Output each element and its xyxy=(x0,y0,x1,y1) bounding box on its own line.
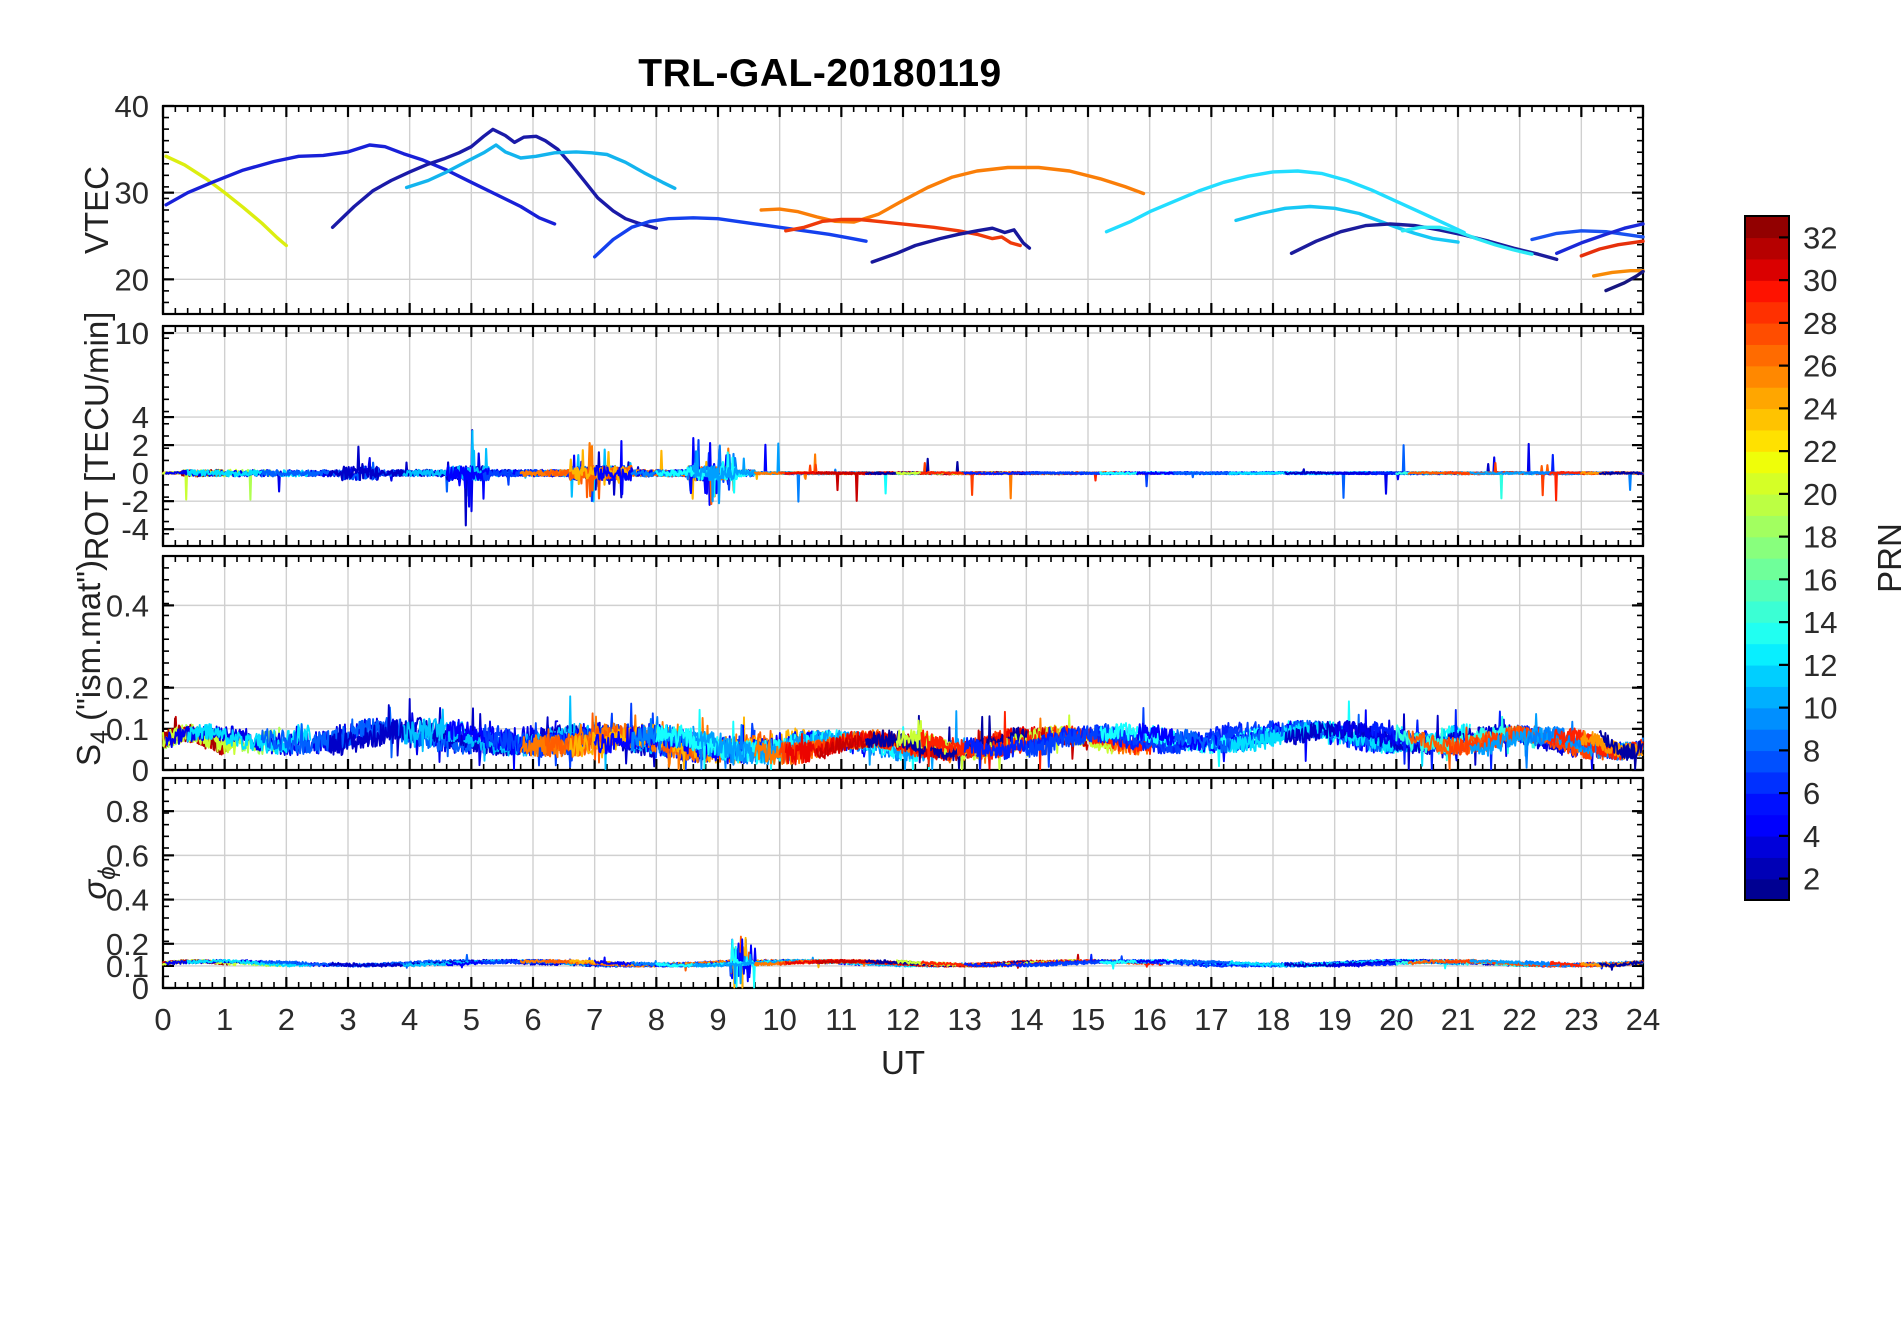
x-tick-label: 6 xyxy=(524,1002,541,1037)
y-tick-label: 0 xyxy=(132,753,149,788)
colorbar-swatch xyxy=(1745,665,1789,687)
colorbar-swatch xyxy=(1745,387,1789,409)
colorbar-tick-label: 18 xyxy=(1803,520,1837,555)
x-axis-label: UT xyxy=(881,1044,925,1081)
x-tick-label: 7 xyxy=(586,1002,603,1037)
colorbar-tick-label: 26 xyxy=(1803,349,1837,384)
colorbar-tick-label: 14 xyxy=(1803,605,1837,640)
x-tick-label: 16 xyxy=(1132,1002,1166,1037)
vtec-trace-prn-11 xyxy=(407,145,675,188)
x-tick-label: 9 xyxy=(709,1002,726,1037)
vtec-trace-prn-13 xyxy=(1107,171,1465,233)
colorbar-tick-label: 30 xyxy=(1803,263,1837,298)
colorbar-tick-label: 22 xyxy=(1803,434,1837,469)
colorbar-tick-label: 10 xyxy=(1803,691,1837,726)
colorbar-swatch xyxy=(1745,216,1789,238)
x-tick-label: 17 xyxy=(1194,1002,1228,1037)
y-tick-label-rot-10: 10 xyxy=(115,316,149,351)
y-tick-label: 20 xyxy=(115,262,149,297)
vtec-trace-prn-26 xyxy=(761,168,1143,223)
colorbar-swatch xyxy=(1745,708,1789,730)
colorbar-swatch xyxy=(1745,430,1789,452)
y-tick-label: 0.4 xyxy=(106,588,149,623)
page-title: TRL-GAL-20180119 xyxy=(0,52,1640,96)
colorbar-swatch xyxy=(1745,366,1789,388)
colorbar-swatch xyxy=(1745,237,1789,259)
rot-trace-prn-6 xyxy=(1372,455,1643,479)
vtec-trace-prn-29 xyxy=(1581,241,1643,256)
x-tick-label: 15 xyxy=(1071,1002,1105,1037)
colorbar-swatch xyxy=(1745,323,1789,345)
colorbar-swatch xyxy=(1745,451,1789,473)
colorbar-swatch xyxy=(1745,644,1789,666)
colorbar-label: PRN xyxy=(1871,523,1902,593)
x-tick-label: 2 xyxy=(278,1002,295,1037)
x-tick-label: 0 xyxy=(154,1002,171,1037)
x-tick-label: 12 xyxy=(886,1002,920,1037)
x-tick-label: 3 xyxy=(339,1002,356,1037)
x-tick-label: 10 xyxy=(762,1002,796,1037)
x-tick-label: 23 xyxy=(1564,1002,1598,1037)
colorbar-swatch xyxy=(1745,772,1789,794)
colorbar-swatch xyxy=(1745,622,1789,644)
y-tick-label: 30 xyxy=(115,176,149,211)
rot-trace-prn-14 xyxy=(1396,472,1537,498)
figure-canvas: 203040-4-20241000.10.20.400.10.20.40.60.… xyxy=(0,0,1902,1330)
y-tick-label: 0.2 xyxy=(106,671,149,706)
colorbar-swatch xyxy=(1745,601,1789,623)
x-tick-label: 21 xyxy=(1441,1002,1475,1037)
vtec-trace-prn-3 xyxy=(1292,224,1557,260)
colorbar-tick-label: 12 xyxy=(1803,648,1837,683)
x-tick-label: 14 xyxy=(1009,1002,1043,1037)
x-tick-label: 11 xyxy=(825,1002,857,1037)
colorbar-swatch xyxy=(1745,836,1789,858)
y-axis-label-vtec: VTEC xyxy=(78,166,115,254)
x-tick-label: 5 xyxy=(463,1002,480,1037)
rot-trace-prn-2 xyxy=(1600,472,1643,474)
colorbar-swatch xyxy=(1745,408,1789,430)
colorbar-swatch xyxy=(1745,857,1789,879)
colorbar-swatch xyxy=(1745,793,1789,815)
x-tick-label: 1 xyxy=(216,1002,233,1037)
colorbar-tick-label: 2 xyxy=(1803,862,1820,897)
rot-trace-prn-26 xyxy=(755,454,1149,498)
colorbar-swatch xyxy=(1745,344,1789,366)
rot-trace-prn-31 xyxy=(817,472,1088,501)
colorbar-swatch xyxy=(1745,473,1789,495)
colorbar-swatch xyxy=(1745,729,1789,751)
colorbar-swatch xyxy=(1745,537,1789,559)
colorbar-tick-label: 24 xyxy=(1803,391,1837,426)
x-tick-label: 20 xyxy=(1379,1002,1413,1037)
colorbar-tick-label: 4 xyxy=(1803,819,1820,854)
x-tick-label: 18 xyxy=(1256,1002,1290,1037)
colorbar-swatch xyxy=(1745,259,1789,281)
vtec-trace-prn-2 xyxy=(1606,272,1643,291)
y-axis-label-rot: ROT [TECU/min] xyxy=(78,312,115,561)
x-tick-label: 4 xyxy=(401,1002,418,1037)
colorbar-swatch xyxy=(1745,558,1789,580)
sigma-phi-trace-prn-7 xyxy=(484,939,755,976)
x-tick-label: 19 xyxy=(1317,1002,1351,1037)
y-tick-label: 4 xyxy=(132,400,149,435)
rot-trace-prn-11 xyxy=(404,431,675,501)
x-tick-label: 22 xyxy=(1502,1002,1536,1037)
colorbar-swatch xyxy=(1745,686,1789,708)
y-tick-label: 0.8 xyxy=(106,794,149,829)
colorbar-tick-label: 16 xyxy=(1803,562,1837,597)
vtec-trace-prn-19 xyxy=(166,156,286,245)
x-tick-label: 24 xyxy=(1626,1002,1660,1037)
colorbar-tick-label: 6 xyxy=(1803,776,1820,811)
colorbar-swatch xyxy=(1745,815,1789,837)
vtec-trace-prn-14 xyxy=(1403,227,1533,254)
colorbar-tick-label: 8 xyxy=(1803,733,1820,768)
colorbar-swatch xyxy=(1745,302,1789,324)
vtec-trace-prn-6 xyxy=(1532,231,1643,240)
colorbar-swatch xyxy=(1745,579,1789,601)
colorbar-swatch xyxy=(1745,750,1789,772)
colorbar-swatch xyxy=(1745,879,1789,901)
colorbar-tick-label: 32 xyxy=(1803,220,1837,255)
x-tick-label: 13 xyxy=(947,1002,981,1037)
colorbar-tick-label: 20 xyxy=(1803,477,1837,512)
vtec-trace-prn-12 xyxy=(1236,207,1458,243)
colorbar-swatch xyxy=(1745,280,1789,302)
colorbar-swatch xyxy=(1745,494,1789,516)
y-tick-label: 0.2 xyxy=(106,927,149,962)
vtec-trace-prn-2 xyxy=(872,228,1029,262)
colorbar-tick-label: 28 xyxy=(1803,306,1837,341)
colorbar-swatch xyxy=(1745,515,1789,537)
x-tick-label: 8 xyxy=(648,1002,665,1037)
